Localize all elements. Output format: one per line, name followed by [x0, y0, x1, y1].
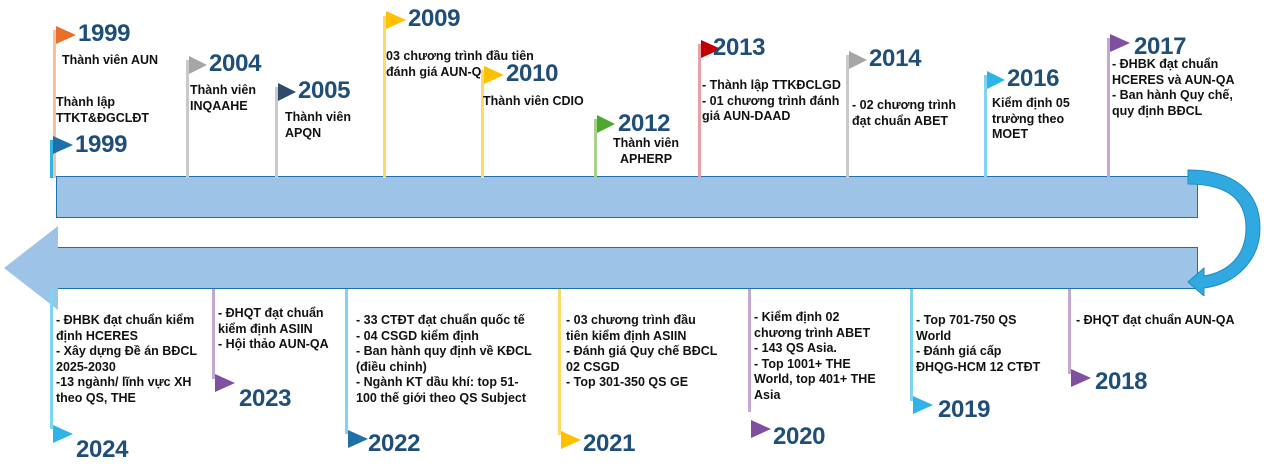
flag-pole-2017 — [1107, 38, 1110, 178]
flag-pennant-2021 — [561, 431, 581, 449]
year-label-2014: 2014 — [869, 45, 921, 73]
bottom-timeline-bar — [56, 247, 1198, 289]
note-2020: - Kiểm định 02 chương trình ABET - 143 Q… — [754, 310, 899, 403]
flag-pennant-2009 — [386, 11, 406, 29]
flag-pole-2004 — [186, 60, 189, 178]
note-2022: - 33 CTĐT đạt chuẩn quốc tế - 04 CSGD ki… — [356, 313, 561, 406]
flag-pennant-2004 — [189, 56, 207, 74]
u-turn-arrow-icon — [1186, 166, 1264, 296]
flag-pole-2018 — [1068, 289, 1071, 374]
flag-pennant-2018 — [1071, 369, 1091, 387]
year-label-2009: 2009 — [408, 5, 460, 33]
flag-pole-2014 — [846, 55, 849, 178]
top-timeline-bar — [56, 176, 1198, 218]
flag-pennant-2020 — [751, 420, 771, 438]
note-2021: - 03 chương trình đầu tiên kiểm định ASI… — [566, 313, 741, 391]
flag-pennant-2024 — [53, 425, 73, 443]
year-label-2021: 2021 — [583, 430, 635, 458]
note-2005: Thành viên APQN — [285, 110, 405, 141]
flag-pennant-2005 — [278, 83, 296, 101]
flag-pole-2013 — [698, 44, 701, 178]
flag-pennant-2022 — [348, 430, 368, 448]
timeline-infographic: 1999 Thành viên AUN 1999 Thành lập TTKT&… — [0, 0, 1264, 474]
note-2018: - ĐHQT đạt chuẩn AUN-QA — [1076, 313, 1264, 329]
year-label-2004: 2004 — [209, 50, 261, 78]
flag-pole-2023 — [212, 289, 215, 379]
flag-pole-2016 — [984, 75, 987, 178]
flag-pennant-1999-aun — [56, 26, 76, 44]
year-label-2010: 2010 — [506, 60, 558, 88]
year-label-2005: 2005 — [298, 77, 350, 105]
year-label-2018: 2018 — [1095, 368, 1147, 396]
flag-pole-2022 — [345, 289, 348, 434]
note-2013: - Thành lập TTKĐCLGD - 01 chương trình đ… — [702, 78, 867, 125]
note-2019: - Top 701-750 QS World - Đánh giá cấp ĐH… — [916, 313, 1066, 375]
note-2010: Thành viên CDIO — [483, 94, 653, 110]
flag-pennant-2012 — [597, 115, 615, 133]
year-label-2012: 2012 — [618, 110, 670, 138]
year-label-1999-ttkt: 1999 — [75, 131, 127, 159]
note-2014: - 02 chương trình đạt chuẩn ABET — [852, 98, 992, 129]
flag-pole-2021 — [558, 289, 561, 435]
year-label-2024: 2024 — [76, 436, 128, 464]
year-label-1999-aun: 1999 — [78, 20, 130, 48]
note-2016: Kiểm định 05 trường theo MOET — [992, 96, 1107, 143]
year-label-2023: 2023 — [239, 385, 291, 413]
flag-pennant-1999-ttkt — [53, 136, 73, 154]
year-label-2020: 2020 — [773, 423, 825, 451]
year-label-2013: 2013 — [713, 34, 765, 62]
year-label-2022: 2022 — [368, 430, 420, 458]
note-2024: - ĐHBK đạt chuẩn kiểm định HCERES - Xây … — [56, 313, 221, 406]
year-label-2016: 2016 — [1007, 65, 1059, 93]
flag-pole-2009 — [383, 16, 386, 178]
flag-pennant-2014 — [849, 51, 867, 69]
flag-pennant-2019 — [913, 396, 933, 414]
flag-pole-2024 — [50, 289, 53, 429]
flag-pole-2019 — [910, 289, 913, 401]
flag-pennant-2016 — [987, 71, 1005, 89]
flag-pole-2020 — [748, 289, 751, 412]
flag-pennant-2023 — [215, 374, 235, 392]
flag-pennant-2017 — [1110, 34, 1130, 52]
note-2012: Thành viên APHERP — [600, 136, 692, 167]
flag-pole-2010 — [481, 70, 484, 178]
flag-pennant-2010 — [484, 66, 504, 84]
note-2017: - ĐHBK đạt chuẩn HCERES và AUN-QA - Ban … — [1112, 57, 1262, 119]
year-label-2019: 2019 — [938, 396, 990, 424]
